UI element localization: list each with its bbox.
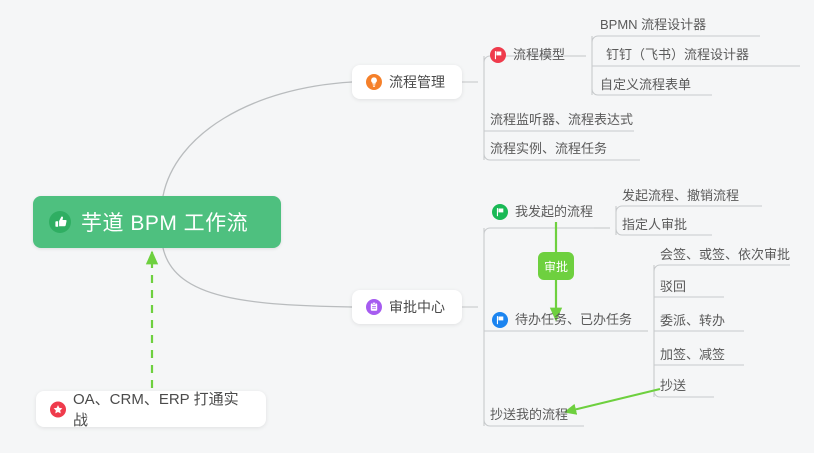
footnote-label: OA、CRM、ERP 打通实战 xyxy=(73,388,252,430)
approval-badge-label: 审批 xyxy=(544,258,568,275)
node-label: 待办任务、已办任务 xyxy=(515,309,632,331)
branch-label: 流程管理 xyxy=(389,72,445,92)
node-my-initiated[interactable]: 我发起的流程 xyxy=(492,201,593,223)
node-todo-done[interactable]: 待办任务、已办任务 xyxy=(492,309,632,331)
node-delegate-transfer[interactable]: 委派、转办 xyxy=(660,310,725,332)
node-cc-my-process[interactable]: 抄送我的流程 xyxy=(490,404,568,426)
node-label: 加签、减签 xyxy=(660,344,725,366)
node-label: 委派、转办 xyxy=(660,310,725,332)
node-bpmn-designer[interactable]: BPMN 流程设计器 xyxy=(600,14,706,36)
star-icon xyxy=(50,401,66,417)
node-label: 流程实例、流程任务 xyxy=(490,138,607,160)
thumbs-up-icon xyxy=(49,211,71,233)
node-label: 抄送我的流程 xyxy=(490,404,568,426)
node-process-model[interactable]: 流程模型 xyxy=(490,44,565,66)
branch-process-management[interactable]: 流程管理 xyxy=(352,65,462,99)
node-label: 我发起的流程 xyxy=(515,201,593,223)
node-dingtalk-designer[interactable]: 钉钉（飞书）流程设计器 xyxy=(606,44,749,66)
approval-badge: 审批 xyxy=(538,252,574,280)
mindmap-canvas: 芋道 BPM 工作流 流程管理 审批中心 xyxy=(0,0,814,453)
root-label: 芋道 BPM 工作流 xyxy=(81,207,248,237)
root-node[interactable]: 芋道 BPM 工作流 xyxy=(33,196,281,248)
node-label: 会签、或签、依次审批 xyxy=(660,244,790,266)
flag-icon xyxy=(492,312,508,328)
node-reject[interactable]: 驳回 xyxy=(660,276,686,298)
node-countersign[interactable]: 会签、或签、依次审批 xyxy=(660,244,790,266)
footnote-node[interactable]: OA、CRM、ERP 打通实战 xyxy=(36,391,266,427)
node-label: 流程模型 xyxy=(513,44,565,66)
node-label: 抄送 xyxy=(660,375,686,397)
node-label: 驳回 xyxy=(660,276,686,298)
node-process-listener[interactable]: 流程监听器、流程表达式 xyxy=(490,109,633,131)
lightbulb-icon xyxy=(366,74,382,90)
node-label: 自定义流程表单 xyxy=(600,74,691,96)
node-cc[interactable]: 抄送 xyxy=(660,375,686,397)
clipboard-icon xyxy=(366,299,382,315)
node-label: 钉钉（飞书）流程设计器 xyxy=(606,44,749,66)
flag-icon xyxy=(492,204,508,220)
node-start-cancel-process[interactable]: 发起流程、撤销流程 xyxy=(622,185,739,207)
node-label: 指定人审批 xyxy=(622,214,687,236)
node-label: BPMN 流程设计器 xyxy=(600,14,706,36)
node-custom-form[interactable]: 自定义流程表单 xyxy=(600,74,691,96)
flag-icon xyxy=(490,47,506,63)
node-add-remove-sign[interactable]: 加签、减签 xyxy=(660,344,725,366)
node-label: 发起流程、撤销流程 xyxy=(622,185,739,207)
branch-label: 审批中心 xyxy=(389,297,445,317)
node-label: 流程监听器、流程表达式 xyxy=(490,109,633,131)
node-process-instance[interactable]: 流程实例、流程任务 xyxy=(490,138,607,160)
node-assigned-approval[interactable]: 指定人审批 xyxy=(622,214,687,236)
branch-approval-center[interactable]: 审批中心 xyxy=(352,290,462,324)
